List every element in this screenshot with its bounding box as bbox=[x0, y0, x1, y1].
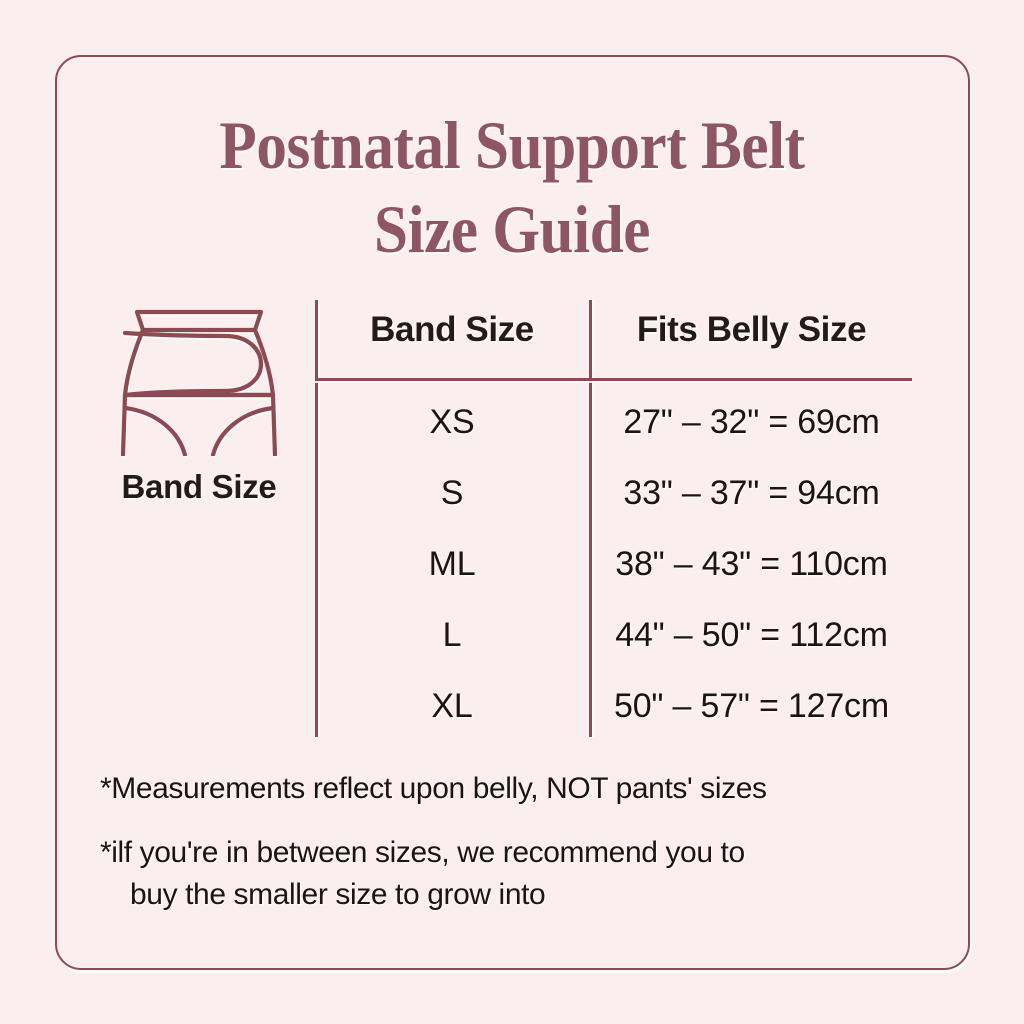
cell-band-size: XL bbox=[315, 687, 589, 726]
cell-fits-belly-size: 44" – 50" = 112cm bbox=[589, 616, 914, 655]
cell-band-size: XS bbox=[315, 403, 589, 442]
column-header-band-size: Band Size bbox=[315, 310, 589, 350]
cell-band-size: S bbox=[315, 474, 589, 513]
cell-fits-belly-size: 38" – 43" = 110cm bbox=[589, 545, 914, 584]
footnote-measurements: *Measurements reflect upon belly, NOT pa… bbox=[100, 768, 930, 810]
footnote-between-sizes-line-1: *ilf you're in between sizes, we recomme… bbox=[100, 836, 745, 869]
illustration-label: Band Size bbox=[86, 468, 312, 506]
table-divider-left bbox=[315, 300, 318, 737]
cell-band-size: L bbox=[315, 616, 589, 655]
size-guide-canvas: Postnatal Support Belt Size Guide bbox=[0, 0, 1024, 1024]
table-divider-right bbox=[589, 300, 592, 737]
page-title-line-2: Size Guide bbox=[51, 187, 973, 271]
page-title: Postnatal Support Belt Size Guide bbox=[51, 103, 973, 271]
footnote-between-sizes: *ilf you're in between sizes, we recomme… bbox=[100, 832, 930, 916]
postnatal-support-belt-icon bbox=[99, 296, 299, 456]
table-header-rule bbox=[315, 378, 912, 381]
cell-fits-belly-size: 50" – 57" = 127cm bbox=[589, 687, 914, 726]
column-header-fits-belly-size: Fits Belly Size bbox=[589, 310, 914, 350]
cell-band-size: ML bbox=[315, 545, 589, 584]
cell-fits-belly-size: 33" – 37" = 94cm bbox=[589, 474, 914, 513]
illustration-block: Band Size bbox=[86, 296, 312, 506]
footnote-between-sizes-line-2: buy the smaller size to grow into bbox=[100, 874, 930, 916]
cell-fits-belly-size: 27" – 32" = 69cm bbox=[589, 403, 914, 442]
page-title-line-1: Postnatal Support Belt bbox=[51, 103, 973, 187]
